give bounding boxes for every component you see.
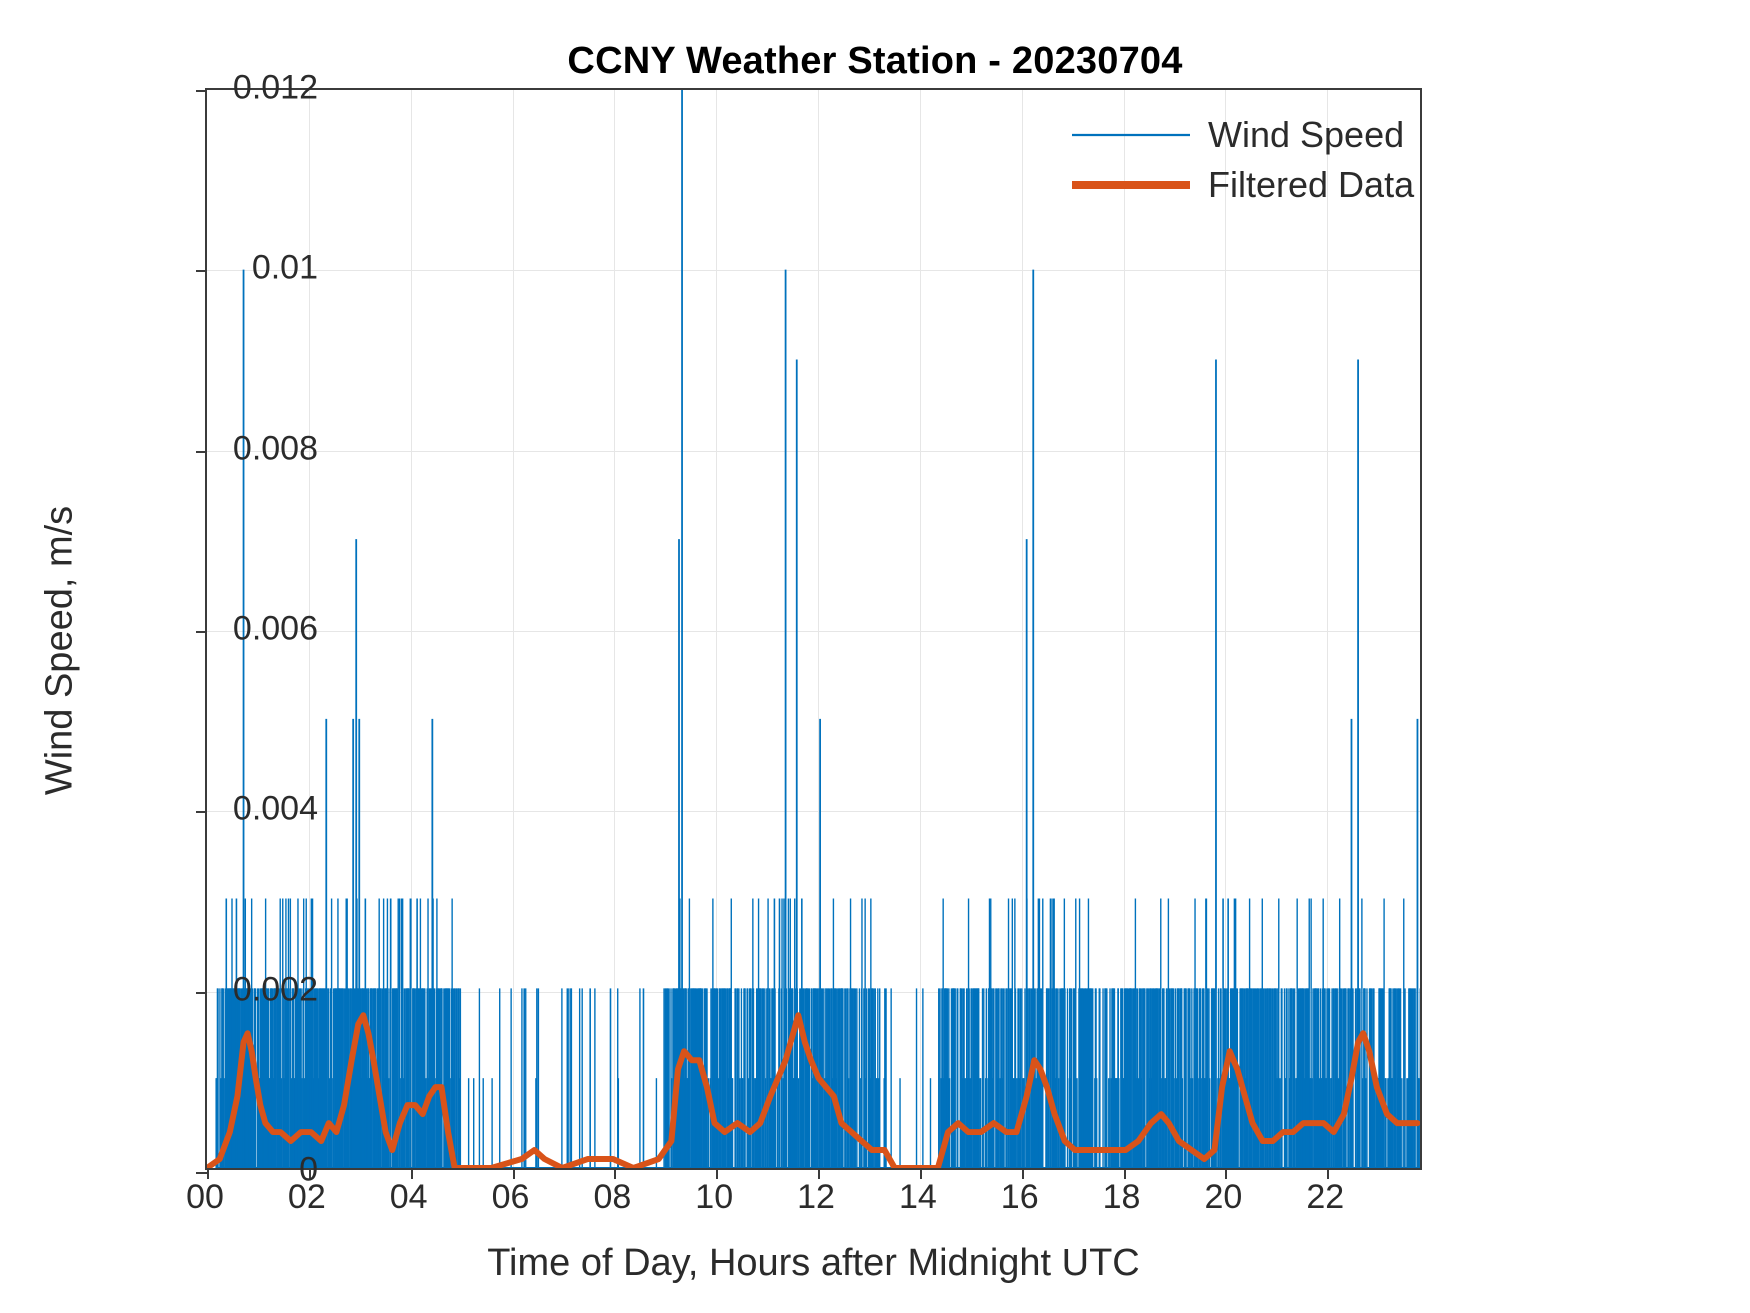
figure-canvas: CCNY Weather Station - 20230704 00.0020.… [0,0,1750,1313]
data-layer [207,90,1420,1168]
y-tick-label: 0.01 [18,249,318,288]
chart-legend[interactable]: Wind Speed Filtered Data [1060,112,1400,220]
legend-item-wind-speed[interactable]: Wind Speed [1060,112,1400,158]
legend-swatch-wind-speed [1072,129,1190,141]
y-tick-label: 0.012 [18,69,318,108]
x-tick-label: 22 [1255,1178,1395,1217]
legend-swatch-filtered-data [1072,178,1190,192]
y-axis-label: Wind Speed, m/s [39,351,82,951]
y-tick-label: 0.002 [18,970,318,1009]
legend-label-wind-speed: Wind Speed [1208,114,1404,156]
wind-speed-spikes [216,90,1420,1168]
legend-label-filtered-data: Filtered Data [1208,164,1414,206]
x-axis-label: Time of Day, Hours after Midnight UTC [205,1242,1422,1285]
legend-item-filtered-data[interactable]: Filtered Data [1060,162,1400,208]
plot-area[interactable] [205,88,1422,1170]
